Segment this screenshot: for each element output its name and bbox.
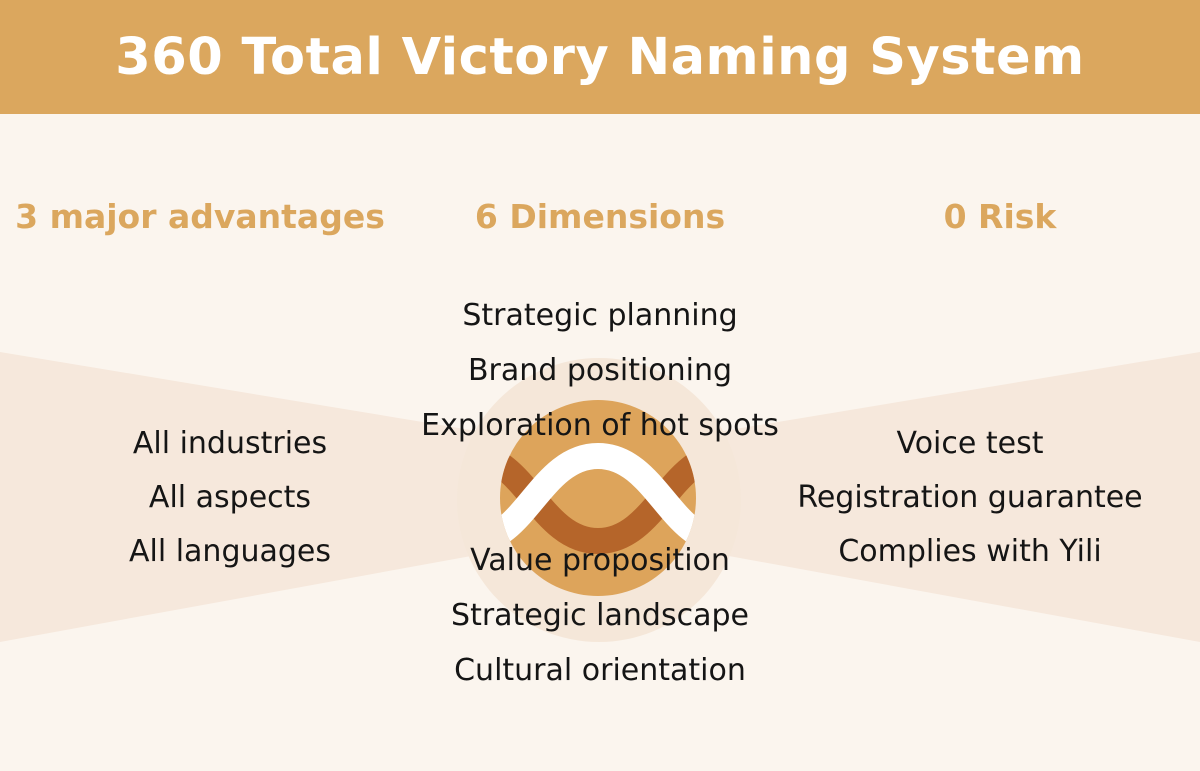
column-center-items-top: Strategic planning Brand positioning Exp…	[400, 288, 800, 453]
list-item: Cultural orientation	[454, 643, 746, 698]
column-right-items: Voice test Registration guarantee Compli…	[780, 417, 1160, 579]
heading-cell-center: 6 Dimensions	[400, 186, 800, 246]
list-item: Voice test	[897, 417, 1044, 471]
heading-cell-right: 0 Risk	[800, 186, 1200, 246]
list-item: Strategic planning	[462, 288, 737, 343]
column-left-items: All industries All aspects All languages	[40, 417, 420, 579]
list-item: Brand positioning	[468, 343, 732, 398]
list-item: Complies with Yili	[838, 525, 1101, 579]
list-item: All languages	[129, 525, 331, 579]
list-item: All aspects	[149, 471, 311, 525]
list-item: Registration guarantee	[797, 471, 1142, 525]
column-headings-row: 3 major advantages 6 Dimensions 0 Risk	[0, 186, 1200, 246]
poster-canvas: 360 Total Victory Naming System 3 major …	[0, 0, 1200, 771]
list-item: Exploration of hot spots	[421, 398, 779, 453]
heading-dimensions: 6 Dimensions	[475, 200, 725, 233]
list-item: Strategic landscape	[451, 588, 749, 643]
list-item: All industries	[133, 417, 327, 471]
heading-cell-left: 3 major advantages	[0, 186, 400, 246]
heading-risk: 0 Risk	[944, 200, 1057, 233]
page-title: 360 Total Victory Naming System	[115, 32, 1084, 83]
header-band: 360 Total Victory Naming System	[0, 0, 1200, 114]
column-center-items-bottom: Value proposition Strategic landscape Cu…	[400, 533, 800, 698]
heading-advantages: 3 major advantages	[15, 200, 385, 233]
list-item: Value proposition	[470, 533, 730, 588]
